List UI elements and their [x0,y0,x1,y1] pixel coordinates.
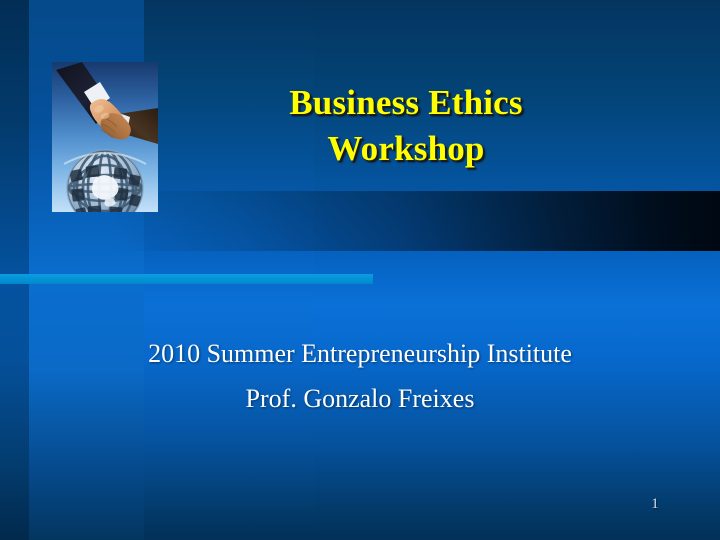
globe-graphic [64,150,146,212]
handshake-globe-image [52,62,158,212]
background-dark-horizontal-band [110,191,720,251]
background-band-far-left [0,0,29,540]
presentation-slide: Business Ethics Workshop 2010 Summer Ent… [0,0,720,540]
handshake-globe-illustration [52,62,158,212]
slide-title: Business Ethics Workshop [196,80,616,172]
slide-title-line-1: Business Ethics [196,80,616,126]
slide-page-number: 1 [640,496,670,513]
accent-bar [0,274,373,284]
slide-subtitle: 2010 Summer Entrepreneurship Institute P… [60,332,660,421]
slide-title-line-2: Workshop [196,126,616,172]
slide-subtitle-line-1: 2010 Summer Entrepreneurship Institute [60,332,660,377]
slide-subtitle-line-2: Prof. Gonzalo Freixes [60,377,660,422]
